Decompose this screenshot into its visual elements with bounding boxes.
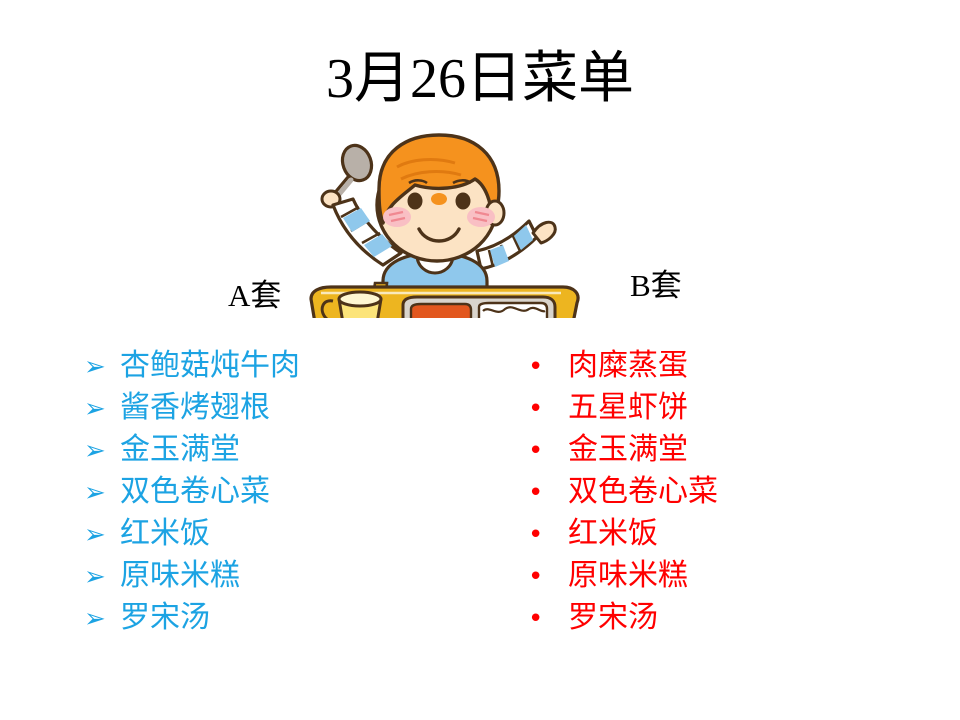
arrow-bullet-icon: ➢: [84, 556, 120, 598]
list-item: ➢ 双色卷心菜: [84, 471, 464, 513]
list-item: ➢ 红米饭: [84, 513, 464, 555]
round-bullet-icon: •: [528, 388, 568, 430]
menu-slide: 3月26日菜单: [0, 0, 960, 720]
list-item: • 金玉满堂: [528, 429, 908, 471]
head: [377, 135, 504, 261]
menu-item-label: 原味米糕: [120, 555, 240, 597]
list-item: ➢ 罗宋汤: [84, 597, 464, 639]
round-bullet-icon: •: [528, 598, 568, 640]
list-item: • 红米饭: [528, 513, 908, 555]
menu-item-label: 金玉满堂: [568, 429, 688, 471]
menu-item-label: 双色卷心菜: [120, 471, 270, 513]
menu-item-label: 双色卷心菜: [568, 471, 718, 513]
list-item: ➢ 原味米糕: [84, 555, 464, 597]
list-item: • 原味米糕: [528, 555, 908, 597]
menu-item-label: 肉糜蒸蛋: [568, 345, 688, 387]
set-b-menu-list: • 肉糜蒸蛋 • 五星虾饼 • 金玉满堂 • 双色卷心菜 • 红米饭 • 原味米…: [528, 345, 908, 639]
set-a-header: A套: [228, 278, 281, 314]
food-tray: [403, 297, 555, 318]
child-eating-illustration: [305, 133, 595, 318]
arrow-bullet-icon: ➢: [84, 388, 120, 430]
list-item: ➢ 杏鲍菇炖牛肉: [84, 345, 464, 387]
menu-item-label: 金玉满堂: [120, 429, 240, 471]
round-bullet-icon: •: [528, 346, 568, 388]
list-item: ➢ 金玉满堂: [84, 429, 464, 471]
list-item: • 双色卷心菜: [528, 471, 908, 513]
round-bullet-icon: •: [528, 514, 568, 556]
menu-item-label: 五星虾饼: [568, 387, 688, 429]
spoon-icon: [322, 141, 376, 207]
menu-item-label: 红米饭: [120, 513, 210, 555]
set-a-menu-list: ➢ 杏鲍菇炖牛肉 ➢ 酱香烤翅根 ➢ 金玉满堂 ➢ 双色卷心菜 ➢ 红米饭 ➢ …: [84, 345, 464, 639]
arrow-bullet-icon: ➢: [84, 346, 120, 388]
menu-item-label: 原味米糕: [568, 555, 688, 597]
page-title: 3月26日菜单: [0, 48, 960, 110]
menu-item-label: 红米饭: [568, 513, 658, 555]
menu-item-label: 酱香烤翅根: [120, 387, 270, 429]
list-item: • 五星虾饼: [528, 387, 908, 429]
arrow-bullet-icon: ➢: [84, 472, 120, 514]
arrow-bullet-icon: ➢: [84, 514, 120, 556]
round-bullet-icon: •: [528, 556, 568, 598]
round-bullet-icon: •: [528, 430, 568, 472]
arrow-bullet-icon: ➢: [84, 598, 120, 640]
set-b-header: B套: [630, 268, 682, 304]
list-item: ➢ 酱香烤翅根: [84, 387, 464, 429]
menu-item-label: 杏鲍菇炖牛肉: [120, 345, 300, 387]
list-item: • 罗宋汤: [528, 597, 908, 639]
list-item: • 肉糜蒸蛋: [528, 345, 908, 387]
menu-item-label: 罗宋汤: [568, 597, 658, 639]
arrow-bullet-icon: ➢: [84, 430, 120, 472]
menu-item-label: 罗宋汤: [120, 597, 210, 639]
round-bullet-icon: •: [528, 472, 568, 514]
